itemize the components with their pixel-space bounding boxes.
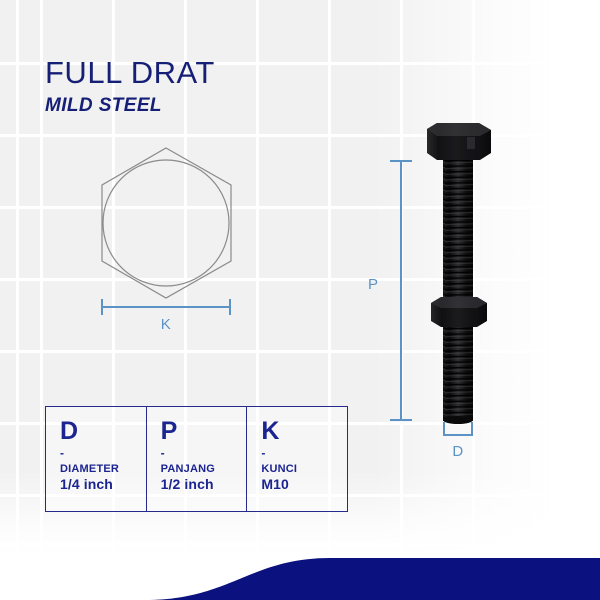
hexagon-head-diagram [96, 143, 238, 303]
spec-key: D [60, 418, 146, 444]
dimension-k-tick-left [101, 299, 103, 315]
dimension-k-label: K [101, 316, 231, 333]
inscribed-circle [103, 160, 229, 286]
dimension-p-line [400, 161, 402, 420]
product-spec-card: FULL DRAT MILD STEEL K [0, 0, 600, 600]
spec-cell-diameter: D - DIAMETER 1/4 inch [46, 407, 147, 511]
hexagon-outline [102, 148, 231, 298]
spec-key: P [161, 418, 247, 444]
dimension-k-line [101, 306, 231, 308]
bottom-swoosh-decoration [0, 530, 600, 600]
spec-table: D - DIAMETER 1/4 inch P - PANJANG 1/2 in… [45, 406, 348, 512]
spec-value: 1/2 inch [161, 476, 247, 493]
dimension-p-cap-bottom [390, 419, 412, 421]
spec-label: DIAMETER [60, 462, 146, 476]
spec-dash: - [261, 448, 347, 459]
bolt-product-photo [415, 115, 515, 430]
spec-label: KUNCI [261, 462, 347, 476]
spec-cell-panjang: P - PANJANG 1/2 inch [147, 407, 248, 511]
dimension-k-tick-right [229, 299, 231, 315]
spec-dash: - [161, 448, 247, 459]
spec-value: M10 [261, 476, 347, 493]
spec-dash: - [60, 448, 146, 459]
dimension-d-line [443, 434, 473, 436]
page-subtitle: MILD STEEL [45, 95, 162, 117]
spec-key: K [261, 418, 347, 444]
spec-cell-kunci: K - KUNCI M10 [247, 407, 347, 511]
dimension-p-label: P [368, 276, 379, 293]
dimension-d-label: D [443, 443, 473, 460]
page-title: FULL DRAT [45, 55, 215, 91]
spec-label: PANJANG [161, 462, 247, 476]
spec-value: 1/4 inch [60, 476, 146, 493]
